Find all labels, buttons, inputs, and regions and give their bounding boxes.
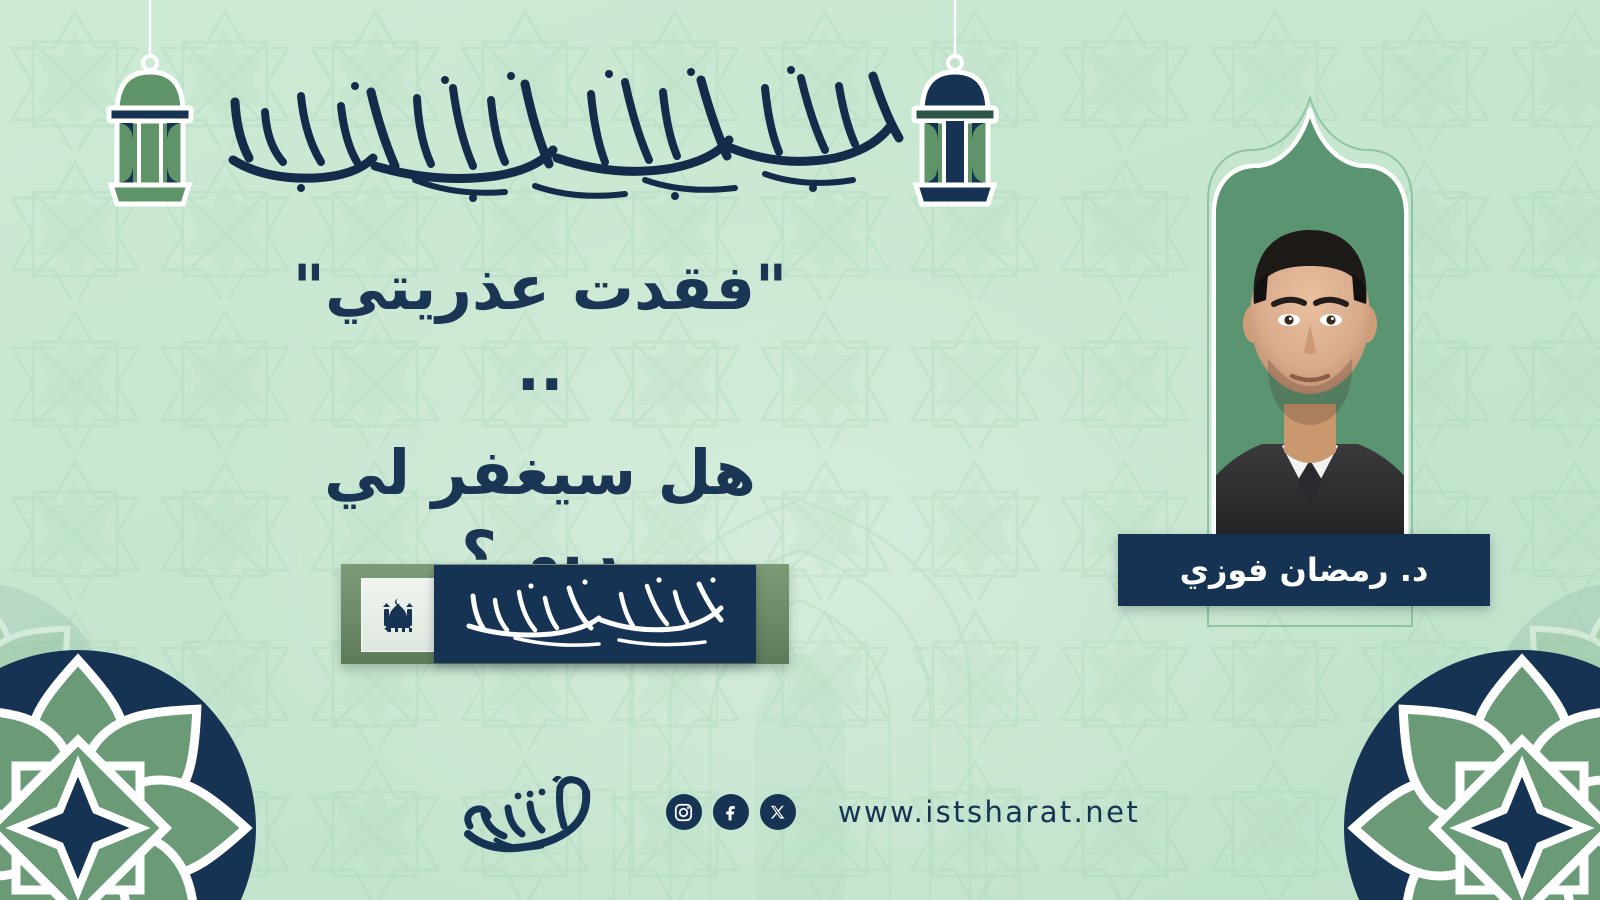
- badge-icon-tile: [361, 578, 435, 652]
- instagram-icon[interactable]: [666, 794, 702, 830]
- headline-line-1: "فقدت عذريتي" ..: [260, 248, 820, 409]
- rosette-bottom-right: [1332, 638, 1600, 900]
- category-badge[interactable]: استشارات إيمانية: [341, 556, 789, 676]
- mosque-icon: [375, 592, 421, 638]
- social-card: بوابة الاستشارات الإلكترونية "فقدت عذريت…: [0, 0, 1600, 900]
- lantern-green: [95, 0, 205, 215]
- site-title-calligraphy: بوابة الاستشارات الإلكترونية: [205, 62, 915, 212]
- x-twitter-icon[interactable]: [760, 794, 796, 830]
- facebook-icon[interactable]: [713, 794, 749, 830]
- rosette-bottom-left: [0, 638, 268, 900]
- author-name: د. رمضان فوزي: [1180, 551, 1429, 589]
- author-portrait: [1132, 108, 1488, 570]
- headline: "فقدت عذريتي" .. هل سيغفر لي ربي؟: [260, 248, 820, 594]
- badge-label-panel: استشارات إيمانية: [434, 565, 756, 663]
- social-links: [666, 794, 796, 830]
- mujtama-logo: [460, 768, 600, 856]
- footer: www.istsharat.net: [0, 772, 1600, 852]
- website-url[interactable]: www.istsharat.net: [838, 795, 1140, 829]
- lantern-navy: [900, 0, 1010, 215]
- author-nameplate: د. رمضان فوزي: [1118, 534, 1490, 606]
